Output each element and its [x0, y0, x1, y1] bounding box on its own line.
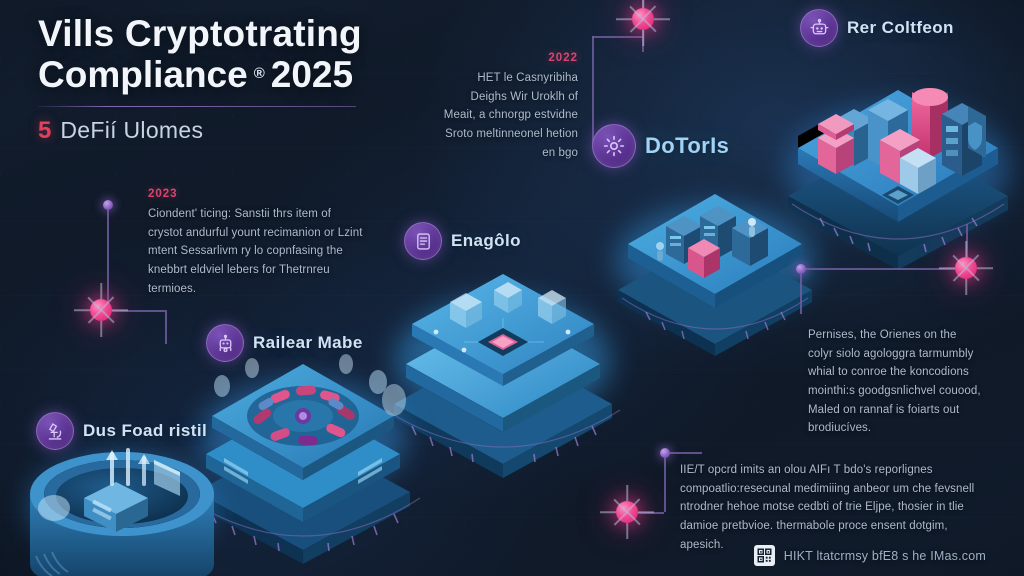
- badge-dotoris[interactable]: DoTorIs: [592, 124, 729, 168]
- badge-dus-foad[interactable]: Dus Foad ristil: [36, 412, 207, 450]
- registered-mark-icon: ®: [254, 65, 265, 83]
- badge-rer-coltfeon[interactable]: Rer Coltfeon: [800, 9, 954, 47]
- iso-datacenter: [600, 150, 830, 346]
- text-block-right-mid: Pernises, the Orienes on the colyr siolo…: [808, 326, 1016, 438]
- text-line: crystot andurful yount recimanion or Lzi…: [148, 224, 368, 243]
- header: Vills Cryptotrating Compliance ® 2025 5 …: [38, 14, 468, 145]
- page-title-line2: Compliance ® 2025: [38, 53, 468, 97]
- text-line: mtent Sessarlivm ry lo copnfasing the: [148, 242, 368, 261]
- text-line: Ciondent' ticing: Sanstii thrs item of: [148, 205, 368, 224]
- page-title-compliance: Compliance: [38, 53, 248, 97]
- badge-label: Railear Mabe: [253, 333, 363, 353]
- year-label-2023: 2023: [148, 188, 368, 200]
- timeline-node-right[interactable]: [955, 257, 977, 279]
- body-text-2023: Ciondent' ticing: Sanstii thrs item of c…: [148, 205, 368, 298]
- microscope-icon: [36, 412, 74, 450]
- text-line: en bgo: [388, 144, 578, 163]
- text-line: Maled on rannaf is foiarts out: [808, 401, 1016, 420]
- badge-label: Enagôlo: [451, 231, 521, 251]
- text-line: IIE/T opcrd imits an olou AIFı T bdo's r…: [680, 461, 1016, 480]
- text-block-2023: 2023 Ciondent' ticing: Sanstii thrs item…: [148, 188, 368, 298]
- timeline-node-bottom[interactable]: [616, 501, 638, 523]
- robot-bot-icon: [206, 324, 244, 362]
- infographic-canvas: Vills Cryptotrating Compliance ® 2025 5 …: [0, 0, 1024, 576]
- text-line: brodiucíves.: [808, 419, 1016, 438]
- connector-2023-vertical: [107, 205, 109, 310]
- gear-circle-icon: [592, 124, 636, 168]
- text-line: compoatlio:resecunal medimiiing anbeor u…: [680, 480, 1016, 499]
- timeline-node-top[interactable]: [632, 8, 654, 30]
- timeline-node-small-2023[interactable]: [103, 200, 113, 210]
- timeline-node-small-right[interactable]: [796, 264, 806, 274]
- page-title-line1: Vills Cryptotrating: [38, 14, 468, 53]
- text-line: colyr siolo agologgra tarmumbly: [808, 345, 1016, 364]
- iso-lab-cylinder: [14, 432, 230, 576]
- subtitle-number: 5: [38, 117, 51, 145]
- page-title-year: 2025: [271, 53, 353, 97]
- body-text-right-mid: Pernises, the Orienes on the colyr siolo…: [808, 326, 1016, 438]
- text-block-bottom: IIE/T opcrd imits an olou AIFı T bdo's r…: [680, 461, 1016, 554]
- text-line: mointhi:s goodgsnlichvel couood,: [808, 382, 1016, 401]
- badge-label: DoTorIs: [645, 133, 729, 159]
- connector-bottom-vertical: [664, 452, 666, 512]
- text-line: whial to conroe the koncodions: [808, 363, 1016, 382]
- text-line: ntrodner hehoe motse cedbti of trie Eljp…: [680, 498, 1016, 517]
- timeline-node-small-bottom[interactable]: [660, 448, 670, 458]
- subtitle: 5 DeFií Ulomes: [38, 117, 468, 145]
- title-divider: [38, 106, 356, 107]
- badge-enagolo[interactable]: Enagôlo: [404, 222, 521, 260]
- timeline-node-left[interactable]: [90, 299, 112, 321]
- badge-label: Rer Coltfeon: [847, 18, 954, 38]
- body-text-bottom: IIE/T opcrd imits an olou AIFı T bdo's r…: [680, 461, 1016, 554]
- connector-right-vertical: [800, 268, 802, 314]
- text-line: termioes.: [148, 280, 368, 299]
- footer-text: HIKT ltatcrmsy bfE8 s he IMas.com: [784, 549, 986, 563]
- subtitle-text: DeFií Ulomes: [60, 117, 203, 144]
- text-line: Pernises, the Orienes on the: [808, 326, 1016, 345]
- qr-code-icon: [754, 545, 775, 566]
- badge-railear-mabe[interactable]: Railear Mabe: [206, 324, 363, 362]
- connector-2022-horizontal: [592, 36, 644, 38]
- robot-head-icon: [800, 9, 838, 47]
- badge-label: Dus Foad ristil: [83, 421, 207, 441]
- document-form-icon: [404, 222, 442, 260]
- footer: HIKT ltatcrmsy bfE8 s he IMas.com: [754, 545, 986, 566]
- text-line: damioe pretbvioe. thermabole proce ensen…: [680, 517, 1016, 536]
- connector-2023-down: [165, 310, 167, 344]
- text-line: knebbrt eldviel lebers for Thetrnreu: [148, 261, 368, 280]
